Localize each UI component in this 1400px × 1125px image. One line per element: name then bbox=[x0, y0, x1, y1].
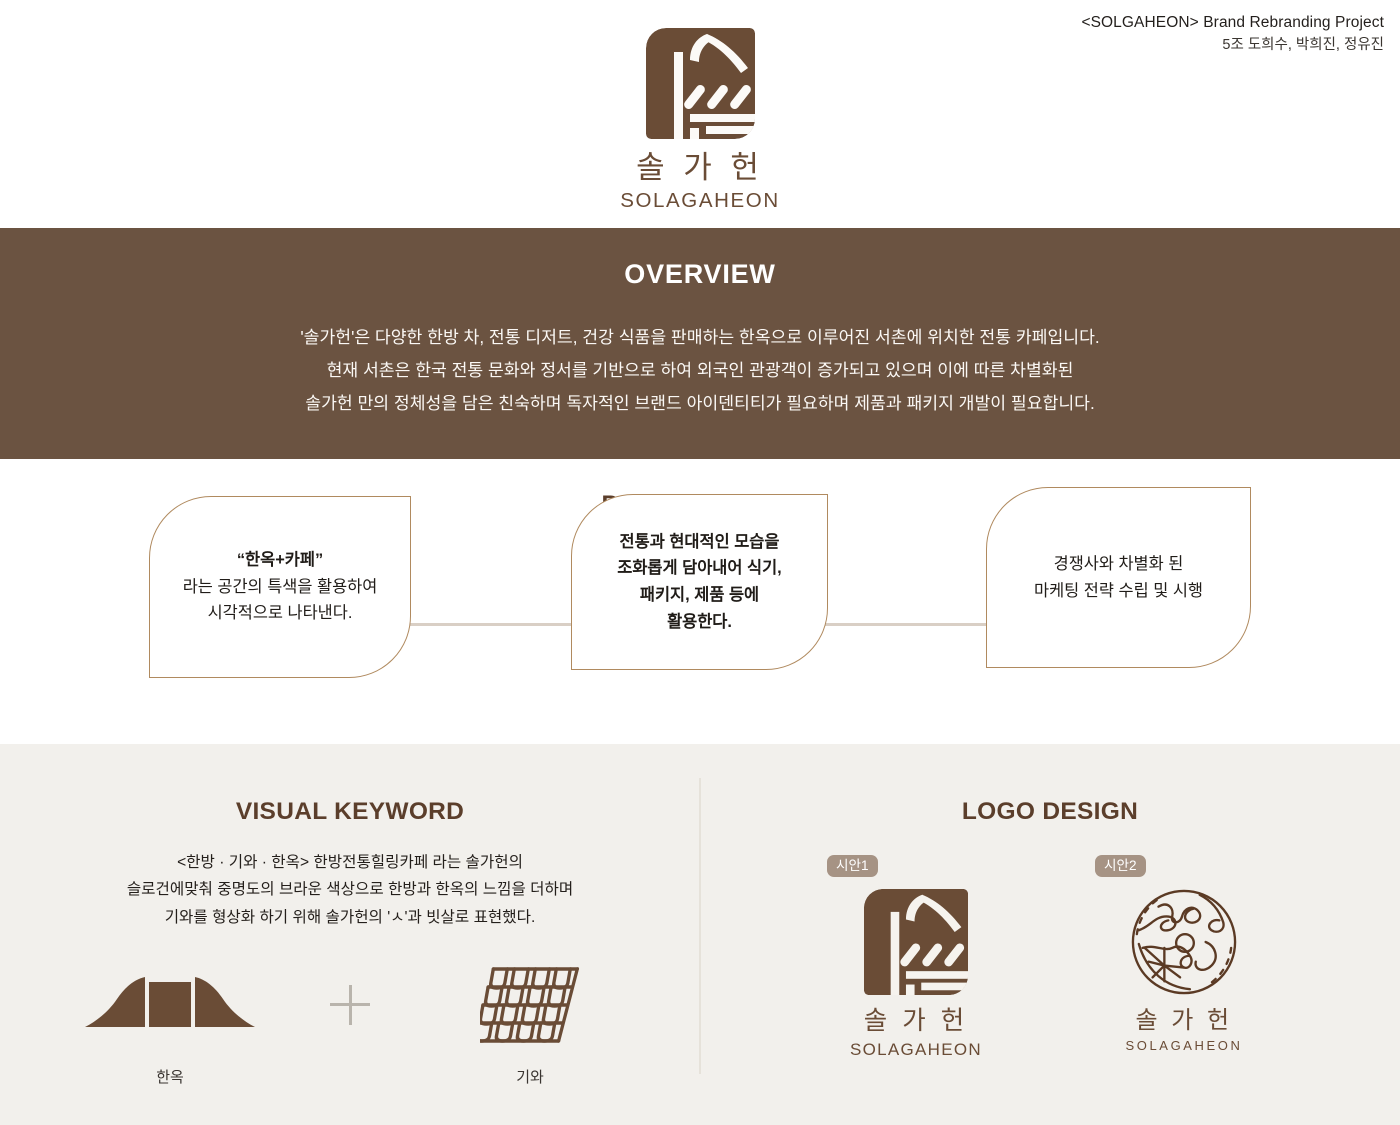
logo-variant-1-latin: SOLAGAHEON bbox=[850, 1041, 982, 1058]
overview-body: '솔가헌'은 다양한 한방 차, 전통 디저트, 건강 식품을 판매하는 한옥으… bbox=[0, 321, 1400, 420]
overview-body-line: '솔가헌'은 다양한 한방 차, 전통 디저트, 건강 식품을 판매하는 한옥으… bbox=[0, 321, 1400, 354]
goal-card-line: 라는 공간의 특색을 활용하여 bbox=[183, 574, 378, 601]
tile-caption: 기와 bbox=[516, 1066, 544, 1087]
logo-variant-2-badge: 시안2 bbox=[1095, 855, 1146, 878]
goal-card-2: 전통과 현대적인 모습을 조화롭게 담아내어 식기, 패키지, 제품 등에 활용… bbox=[571, 494, 828, 670]
solgaheon-hanok-mark-icon bbox=[644, 26, 757, 141]
visual-keyword-title: VISUAL KEYWORD bbox=[0, 744, 700, 825]
overview-body-line: 현재 서촌은 한국 전통 문화와 정서를 기반으로 하여 외국인 관광객이 증가… bbox=[0, 354, 1400, 387]
logo-variant-1-korean: 솔 가 헌 bbox=[864, 1009, 969, 1035]
visual-keyword-desc-line: <한방 · 기와 · 한옥> 한방전통힐링카페 라는 솔가헌의 bbox=[0, 849, 700, 877]
logo-variants: 시안1 bbox=[700, 855, 1400, 1058]
visual-keyword-desc-line: 슬로건에맞춰 중명도의 브라운 색상으로 한방과 한옥의 느낌을 더하며 bbox=[0, 876, 700, 904]
goal-connector-2 bbox=[825, 623, 988, 626]
goal-connector-1 bbox=[408, 623, 574, 626]
logo-variant-2-latin: SOLAGAHEON bbox=[1125, 1039, 1242, 1052]
project-goal-section: PROJECT GOAL “한옥+카페” 라는 공간의 특색을 활용하여 시각적… bbox=[0, 459, 1400, 744]
goal-card-line: 조화롭게 담아내어 식기, bbox=[617, 555, 781, 582]
solgaheon-circle-line-mark-icon bbox=[1129, 886, 1239, 998]
solgaheon-square-mark-icon bbox=[862, 886, 970, 998]
visual-keyword-desc-line: 기와를 형상화 하기 위해 솔가헌의 'ㅅ'과 빗살로 표현했다. bbox=[0, 904, 700, 932]
overview-body-line: 솔가헌 만의 정체성을 담은 친숙하며 독자적인 브랜드 아이덴티티가 필요하며… bbox=[0, 387, 1400, 420]
overview-title: OVERVIEW bbox=[0, 261, 1400, 288]
bottom-section: VISUAL KEYWORD <한방 · 기와 · 한옥> 한방전통힐링카페 라… bbox=[0, 744, 1400, 1125]
visual-keyword-icons: 한옥 bbox=[0, 966, 700, 1087]
goal-card-1-text: “한옥+카페” 라는 공간의 특색을 활용하여 시각적으로 나타낸다. bbox=[183, 547, 378, 627]
logo-design-column: LOGO DESIGN 시안1 bbox=[700, 744, 1400, 1125]
goal-card-line: “한옥+카페” bbox=[183, 547, 378, 574]
goal-card-line: 전통과 현대적인 모습을 bbox=[617, 529, 781, 556]
brand-name-latin: SOLAGAHEON bbox=[620, 191, 780, 212]
goal-card-3: 경쟁사와 차별화 된 마케팅 전략 수립 및 시행 bbox=[986, 487, 1251, 668]
roof-tile-grid-icon bbox=[480, 966, 580, 1044]
brand-name-korean: 솔 가 헌 bbox=[636, 152, 764, 183]
goal-card-1: “한옥+카페” 라는 공간의 특색을 활용하여 시각적으로 나타낸다. bbox=[149, 496, 411, 678]
page-header: <SOLGAHEON> Brand Rebranding Project 5조 … bbox=[0, 0, 1400, 228]
visual-keyword-description: <한방 · 기와 · 한옥> 한방전통힐링카페 라는 솔가헌의 슬로건에맞춰 중… bbox=[0, 849, 700, 932]
goal-card-2-text: 전통과 현대적인 모습을 조화롭게 담아내어 식기, 패키지, 제품 등에 활용… bbox=[617, 529, 781, 635]
project-goal-cards: “한옥+카페” 라는 공간의 특색을 활용하여 시각적으로 나타낸다. 전통과 … bbox=[0, 527, 1400, 727]
visual-keyword-column: VISUAL KEYWORD <한방 · 기와 · 한옥> 한방전통힐링카페 라… bbox=[0, 744, 700, 1125]
logo-variant-1: 시안1 bbox=[821, 855, 1011, 1058]
overview-section: OVERVIEW '솔가헌'은 다양한 한방 차, 전통 디저트, 건강 식품을… bbox=[0, 228, 1400, 459]
brand-lockup: 솔 가 헌 SOLAGAHEON bbox=[0, 26, 1400, 212]
logo-design-title: LOGO DESIGN bbox=[700, 744, 1400, 825]
logo-variant-2: 시안2 bbox=[1089, 855, 1279, 1058]
hanok-roof-icon bbox=[83, 966, 257, 1044]
logo-variant-1-badge: 시안1 bbox=[827, 855, 878, 878]
hanok-caption: 한옥 bbox=[156, 1066, 184, 1087]
goal-card-line: 경쟁사와 차별화 된 bbox=[1034, 551, 1203, 578]
visual-keyword-item-tile: 기와 bbox=[440, 966, 620, 1087]
goal-card-line: 패키지, 제품 등에 bbox=[617, 582, 781, 609]
goal-card-line: 시각적으로 나타낸다. bbox=[183, 600, 378, 627]
goal-card-3-text: 경쟁사와 차별화 된 마케팅 전략 수립 및 시행 bbox=[1034, 551, 1203, 604]
visual-keyword-item-hanok: 한옥 bbox=[80, 966, 260, 1087]
plus-icon bbox=[320, 966, 380, 1044]
logo-variant-2-korean: 솔 가 헌 bbox=[1135, 1009, 1232, 1033]
goal-card-line: 마케팅 전략 수립 및 시행 bbox=[1034, 578, 1203, 605]
goal-card-line: 활용한다. bbox=[617, 609, 781, 636]
